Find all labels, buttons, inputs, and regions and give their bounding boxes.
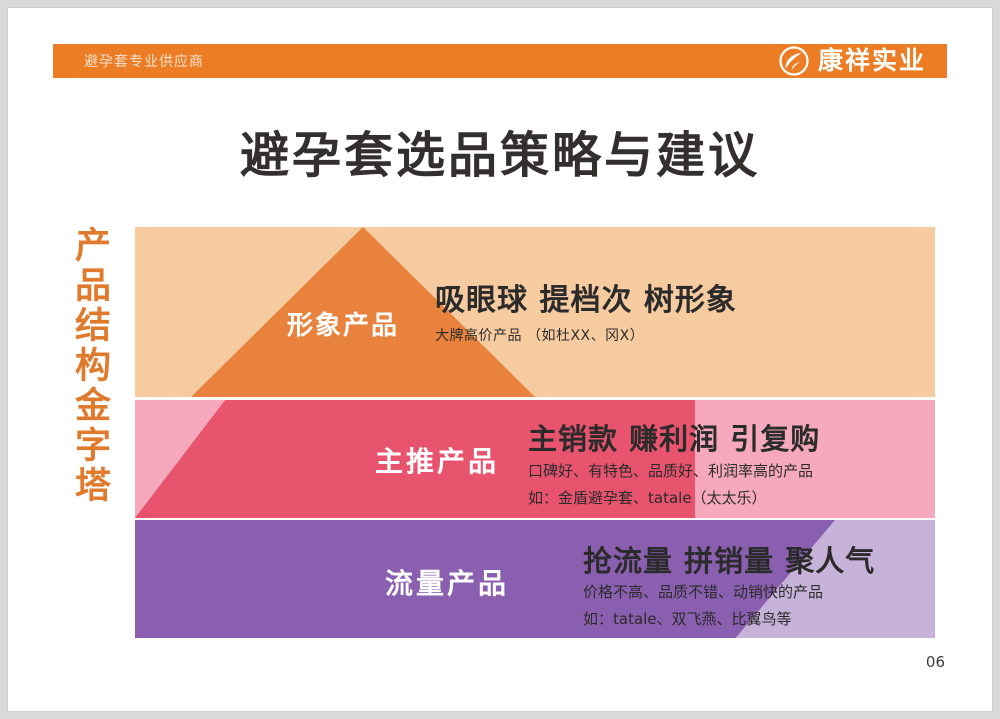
pyramid-tier-traffic-products: 流量产品 抢流量 拼销量 聚人气 价格不高、品质不错、动销快的产品 如：tata… (135, 520, 935, 638)
tier-detail-line: 价格不高、品质不错、动销快的产品 (583, 581, 823, 602)
slide-canvas: 避孕套专业供应商 康祥实业 避孕套选品策略与建议 产品结构金字塔 形象产品 吸眼… (8, 8, 992, 711)
pyramid-tier-main-products: 主推产品 主销款 赚利润 引复购 口碑好、有特色、品质好、利润率高的产品 如：金… (135, 400, 935, 518)
product-structure-pyramid: 形象产品 吸眼球 提档次 树形象 大牌高价产品 （如杜XX、冈X） 主推产品 主… (8, 8, 992, 711)
tier-detail-line: 大牌高价产品 （如杜XX、冈X） (435, 325, 644, 345)
tier-detail-line: 如：tatale、双飞燕、比翼鸟等 (583, 608, 792, 629)
tier-headline: 吸眼球 提档次 树形象 (435, 275, 737, 319)
tier-label: 流量产品 (385, 562, 509, 602)
page-number: 06 (926, 653, 945, 671)
tier-label: 主推产品 (375, 440, 499, 480)
tier-label: 形象产品 (283, 311, 403, 342)
tier-headline: 主销款 赚利润 引复购 (528, 416, 820, 458)
pyramid-tier-image-products: 形象产品 吸眼球 提档次 树形象 大牌高价产品 （如杜XX、冈X） (135, 227, 935, 397)
tier-detail-line: 口碑好、有特色、品质好、利润率高的产品 (528, 460, 813, 481)
tier-headline: 抢流量 拼销量 聚人气 (583, 538, 875, 580)
tier-detail-line: 如：金盾避孕套、tatale（太太乐） (528, 487, 767, 508)
